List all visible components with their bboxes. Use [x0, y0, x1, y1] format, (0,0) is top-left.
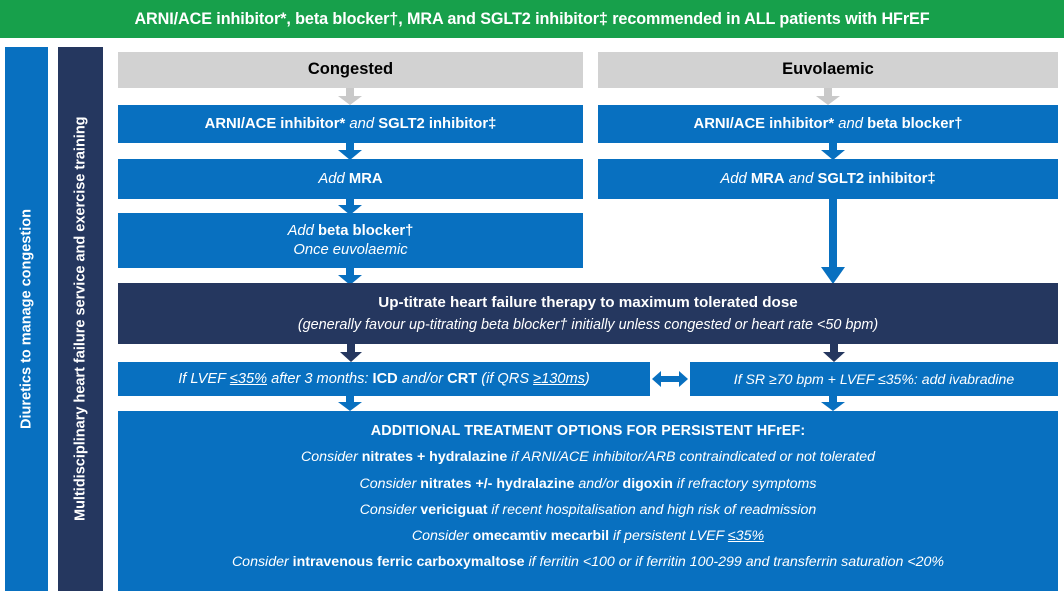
opt4-lead: Consider — [412, 528, 473, 544]
drug-mra-r2: MRA — [751, 171, 785, 187]
icd-qrs-threshold: ≥130ms — [533, 371, 585, 387]
icd-pre: If LVEF — [178, 371, 230, 387]
box-congested-step1-text: ARNI/ACE inhibitor* and SGLT2 inhibitor‡ — [205, 115, 497, 134]
arrow-down-euvolaemic-to-uptitrate — [819, 199, 847, 284]
box-euvolaemic-step2: Add MRA and SGLT2 inhibitor‡ — [598, 159, 1058, 199]
box-congested-step3-note: Once euvolaemic — [293, 241, 407, 260]
sidebar-multidisciplinary-label: Multidisciplinary heart failure service … — [73, 117, 89, 522]
additional-option-vericiguat: Consider vericiguat if recent hospitalis… — [360, 501, 817, 519]
recommendation-banner: ARNI/ACE inhibitor*, beta blocker†, MRA … — [0, 0, 1064, 38]
opt2-drug: nitrates +/- hydralazine — [420, 476, 574, 492]
column-header-euvolaemic: Euvolaemic — [598, 52, 1058, 88]
drug-arni-ace-r1: ARNI/ACE inhibitor* — [694, 116, 835, 132]
additional-option-nitrates-digoxin: Consider nitrates +/- hydralazine and/or… — [360, 475, 817, 493]
box-congested-step3-line1: Add beta blocker† — [288, 222, 414, 241]
box-icd-crt-text: If LVEF ≤35% after 3 months: ICD and/or … — [178, 370, 590, 389]
opt2-tail: if refractory symptoms — [673, 476, 816, 492]
drug-sglt2-l1: SGLT2 inhibitor‡ — [378, 116, 496, 132]
device-icd: ICD — [373, 371, 398, 387]
opt4-value: ≤35% — [728, 528, 764, 544]
conj-and-l1: and — [349, 116, 374, 132]
column-header-euvolaemic-label: Euvolaemic — [782, 59, 874, 80]
arrow-down-uptitrate-left — [338, 344, 364, 362]
arrow-down-euvolaemic-header — [814, 88, 842, 105]
column-header-congested-label: Congested — [308, 59, 393, 80]
additional-option-ferric-carboxymaltose: Consider intravenous ferric carboxymalto… — [232, 553, 944, 571]
sidebar-diuretics-label: Diuretics to manage congestion — [19, 209, 35, 429]
opt2-mid: and/or — [574, 476, 622, 492]
arrow-bidirectional-decision-link — [652, 370, 688, 388]
opt5-drug: intravenous ferric carboxymaltose — [293, 554, 525, 570]
verb-add-l2: Add — [318, 171, 344, 187]
opt4-tail: if persistent LVEF — [609, 528, 728, 544]
arrow-down-congested-1 — [336, 142, 364, 160]
opt1-tail: if ARNI/ACE inhibitor/ARB contraindicate… — [507, 449, 875, 465]
box-congested-step2: Add MRA — [118, 159, 583, 199]
box-ivabradine-text: If SR ≥70 bpm + LVEF ≤35%: add ivabradin… — [734, 370, 1014, 388]
drug-beta-blocker-r1: beta blocker† — [867, 116, 962, 132]
box-uptitrate-subtitle: (generally favour up-titrating beta bloc… — [298, 316, 878, 334]
opt4-drug: omecamtiv mecarbil — [473, 528, 609, 544]
icd-lvef-threshold: ≤35% — [230, 371, 267, 387]
box-euvolaemic-step1: ARNI/ACE inhibitor* and beta blocker† — [598, 105, 1058, 143]
sidebar-multidisciplinary: Multidisciplinary heart failure service … — [58, 47, 103, 591]
arrow-down-ivabradine-to-additional — [819, 396, 847, 411]
box-uptitrate-title: Up-titrate heart failure therapy to maxi… — [378, 293, 797, 312]
drug-beta-blocker-l3: beta blocker† — [318, 223, 413, 239]
box-congested-step1: ARNI/ACE inhibitor* and SGLT2 inhibitor‡ — [118, 105, 583, 143]
column-header-congested: Congested — [118, 52, 583, 88]
drug-arni-ace-l1: ARNI/ACE inhibitor* — [205, 116, 346, 132]
box-ivabradine-decision: If SR ≥70 bpm + LVEF ≤35%: add ivabradin… — [690, 362, 1058, 396]
box-additional-treatment-options: ADDITIONAL TREATMENT OPTIONS FOR PERSIST… — [118, 411, 1058, 591]
box-icd-crt-decision: If LVEF ≤35% after 3 months: ICD and/or … — [118, 362, 650, 396]
conj-and-r2: and — [789, 171, 814, 187]
hfref-treatment-flowchart: ARNI/ACE inhibitor*, beta blocker†, MRA … — [0, 0, 1064, 591]
verb-add-l3: Add — [288, 223, 314, 239]
box-euvolaemic-step2-text: Add MRA and SGLT2 inhibitor‡ — [720, 170, 935, 189]
icd-mid: after 3 months: — [267, 371, 372, 387]
opt2-drug2: digoxin — [623, 476, 673, 492]
device-crt: CRT — [447, 371, 477, 387]
additional-option-nitrates-hydralazine: Consider nitrates + hydralazine if ARNI/… — [301, 448, 875, 466]
opt3-lead: Consider — [360, 502, 421, 518]
opt1-drug: nitrates + hydralazine — [362, 449, 507, 465]
verb-add-r2: Add — [720, 171, 746, 187]
additional-options-title: ADDITIONAL TREATMENT OPTIONS FOR PERSIST… — [371, 422, 806, 440]
opt2-lead: Consider — [360, 476, 421, 492]
box-congested-step2-text: Add MRA — [318, 170, 382, 189]
arrow-down-icd-to-additional — [336, 396, 364, 411]
arrow-down-congested-header — [336, 88, 364, 105]
drug-mra-l2: MRA — [349, 171, 383, 187]
opt5-tail: if ferritin <100 or if ferritin 100-299 … — [525, 554, 945, 570]
icd-post-open: (if QRS — [477, 371, 533, 387]
icd-andor: and/or — [398, 371, 448, 387]
additional-option-omecamtiv: Consider omecamtiv mecarbil if persisten… — [412, 527, 764, 545]
box-congested-step3: Add beta blocker† Once euvolaemic — [118, 213, 583, 268]
icd-post-close: ) — [585, 371, 590, 387]
conj-and-r1: and — [838, 116, 863, 132]
sidebar-diuretics: Diuretics to manage congestion — [5, 47, 48, 591]
box-uptitrate-therapy: Up-titrate heart failure therapy to maxi… — [118, 283, 1058, 344]
opt3-tail: if recent hospitalisation and high risk … — [487, 502, 816, 518]
opt1-lead: Consider — [301, 449, 362, 465]
box-euvolaemic-step1-text: ARNI/ACE inhibitor* and beta blocker† — [694, 115, 963, 134]
arrow-down-euvolaemic-1 — [819, 142, 847, 160]
drug-sglt2-r2: SGLT2 inhibitor‡ — [818, 171, 936, 187]
arrow-down-uptitrate-right — [821, 344, 847, 362]
opt3-drug: vericiguat — [420, 502, 487, 518]
opt5-lead: Consider — [232, 554, 293, 570]
